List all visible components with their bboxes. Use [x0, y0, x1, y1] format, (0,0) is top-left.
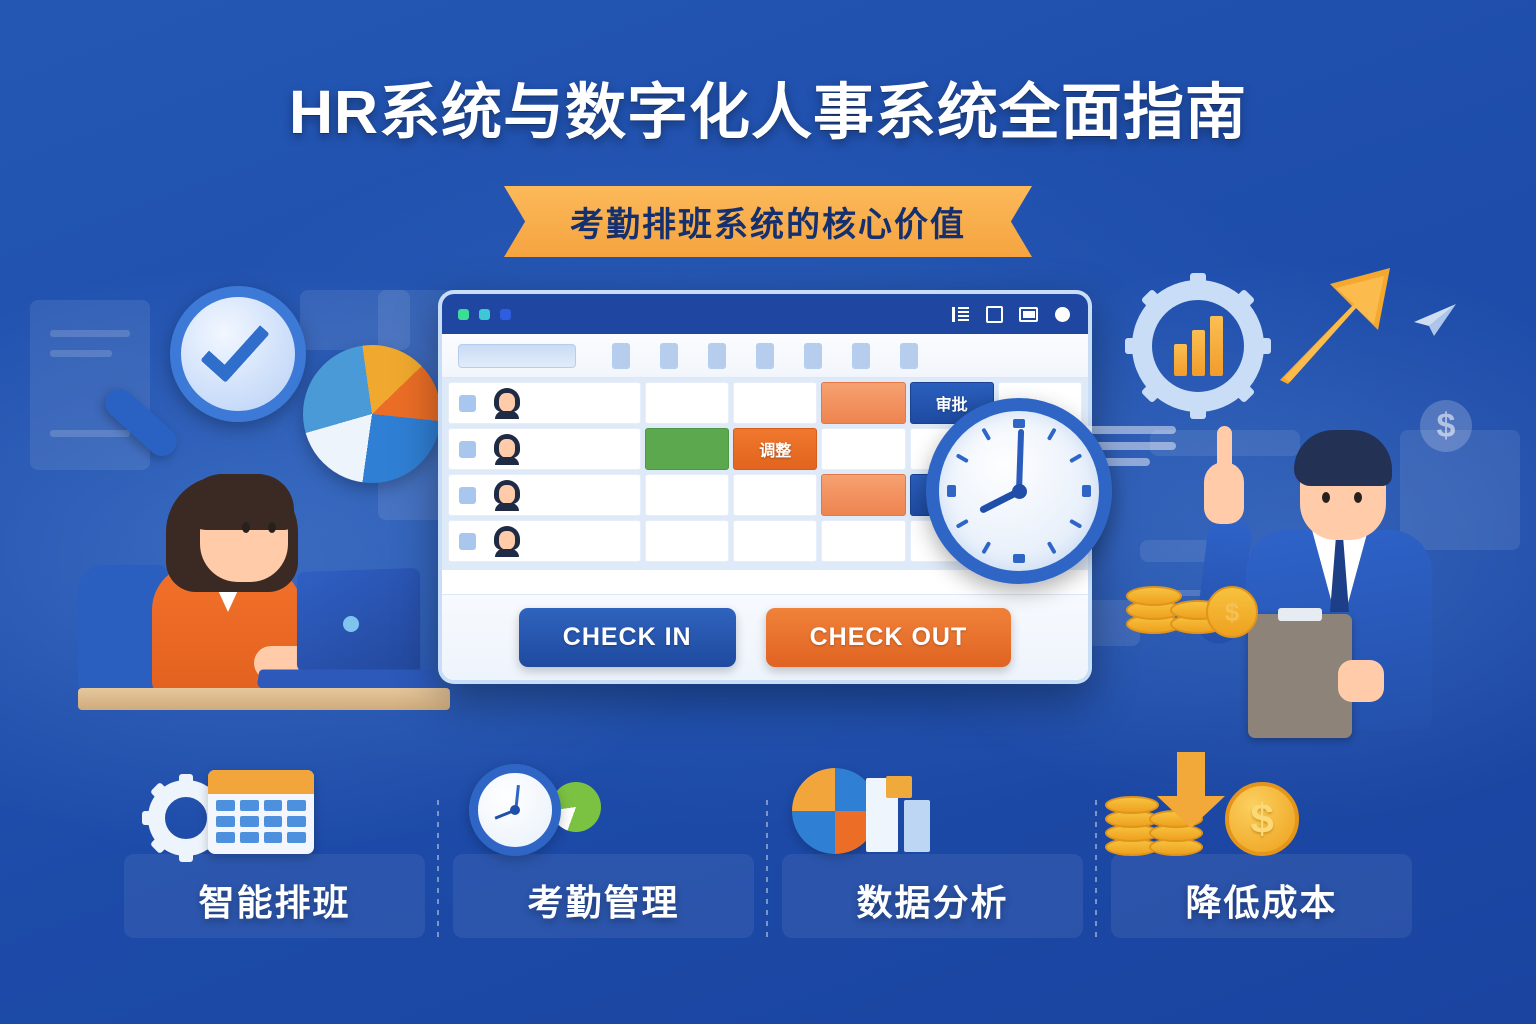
woman-at-laptop-illustration [78, 460, 458, 740]
wall-clock-icon [926, 398, 1112, 584]
feature-label: 数据分析 [856, 874, 1008, 926]
gear-calendar-icon [110, 760, 439, 856]
toolbar-chip[interactable] [804, 343, 822, 369]
eye [1354, 492, 1362, 503]
bar [904, 800, 930, 852]
pie-bar-chart-icon [768, 760, 1097, 856]
dollar-coin-icon: $ [1225, 782, 1299, 856]
paper-plane-icon [1412, 302, 1458, 338]
avatar [492, 434, 522, 464]
desk [78, 688, 450, 710]
toolbar-chips [612, 343, 918, 369]
shift-cell[interactable] [821, 520, 905, 562]
coins-down-arrow-icon: $ [1097, 760, 1426, 856]
toolbar-chip[interactable] [660, 343, 678, 369]
traffic-dot-blue[interactable] [500, 309, 511, 320]
toolbar-chip[interactable] [900, 343, 918, 369]
businessman-illustration [1162, 400, 1492, 730]
eye [242, 522, 250, 533]
search-input[interactable] [458, 344, 576, 368]
hair-front [186, 474, 294, 530]
eye [1322, 492, 1330, 503]
avatar [492, 388, 522, 418]
clock-icon [469, 764, 561, 856]
down-arrow-icon [1153, 752, 1229, 830]
employee-cell[interactable] [448, 474, 641, 516]
shift-cell[interactable] [733, 520, 817, 562]
hair [1294, 430, 1392, 486]
clipboard-clip [1278, 608, 1322, 621]
avatar [492, 526, 522, 556]
window-titlebar [442, 294, 1088, 334]
shift-cell-orange[interactable] [821, 382, 905, 424]
hand [1338, 660, 1384, 702]
feature-data-analysis[interactable]: 数据分析 [768, 760, 1097, 960]
shift-cell[interactable] [645, 382, 729, 424]
shift-cell[interactable] [733, 474, 817, 516]
clock-face [926, 398, 1112, 584]
calendar-icon [208, 770, 314, 854]
shift-cell[interactable] [733, 382, 817, 424]
subtitle-banner: 考勤排班系统的核心价值 [504, 186, 1032, 257]
toolbar-chip[interactable] [708, 343, 726, 369]
laptop-logo [343, 616, 359, 632]
row-checkbox[interactable] [459, 487, 476, 504]
toolbar-chip[interactable] [756, 343, 774, 369]
square-icon[interactable] [985, 305, 1004, 324]
row-checkbox[interactable] [459, 441, 476, 458]
window-toolbar [442, 334, 1088, 378]
row-checkbox[interactable] [459, 533, 476, 550]
shift-cell-orange[interactable] [821, 474, 905, 516]
clock-pie-icon [439, 760, 768, 856]
traffic-dot-green[interactable] [458, 309, 469, 320]
right-illustration: $ $ [1116, 250, 1536, 750]
header: HR系统与数字化人事系统全面指南 [0, 62, 1536, 151]
feature-label: 考勤管理 [527, 874, 679, 926]
gear-bar-chart-icon [1132, 280, 1264, 412]
feature-cost-reduction[interactable]: $ 降低成本 [1097, 760, 1426, 960]
shift-cell[interactable] [645, 474, 729, 516]
employee-cell[interactable] [448, 382, 641, 424]
feature-label: 降低成本 [1185, 874, 1337, 926]
up-arrow-icon [1266, 258, 1396, 388]
minute-hand [1016, 429, 1024, 491]
shift-cell[interactable] [821, 428, 905, 470]
magnifier-handle-icon [99, 383, 182, 462]
check-in-button[interactable]: CHECK IN [519, 608, 736, 667]
shift-cell-green[interactable] [645, 428, 729, 470]
action-bar: CHECK IN CHECK OUT [442, 594, 1088, 680]
window-icon[interactable] [1019, 305, 1038, 324]
employee-cell[interactable] [448, 428, 641, 470]
toolbar-chip[interactable] [852, 343, 870, 369]
clock-center [1012, 484, 1027, 499]
poster-background: HR系统与数字化人事系统全面指南 考勤排班系统的核心价值 [0, 0, 1536, 1024]
traffic-dot-teal[interactable] [479, 309, 490, 320]
status-badge[interactable]: 调整 [733, 428, 817, 470]
feature-row: 智能排班 考勤管理 数据分析 [110, 760, 1426, 960]
bar [886, 776, 912, 798]
toolbar-chip[interactable] [612, 343, 630, 369]
clipboard [1248, 614, 1352, 738]
feature-attendance[interactable]: 考勤管理 [439, 760, 768, 960]
coin-stack-icon: $ [1126, 570, 1256, 650]
eye [268, 522, 276, 533]
list-lines-icon[interactable] [951, 305, 970, 324]
feature-label: 智能排班 [198, 874, 350, 926]
laptop-keyboard [256, 669, 437, 688]
page-title: HR系统与数字化人事系统全面指南 [0, 62, 1536, 151]
pointing-finger [1217, 426, 1232, 474]
titlebar-actions [951, 305, 1072, 324]
avatar [492, 480, 522, 510]
employee-cell[interactable] [448, 520, 641, 562]
left-illustration [0, 250, 470, 750]
circle-icon[interactable] [1053, 305, 1072, 324]
check-out-button[interactable]: CHECK OUT [766, 608, 1012, 667]
shift-cell[interactable] [645, 520, 729, 562]
row-checkbox[interactable] [459, 395, 476, 412]
feature-smart-scheduling[interactable]: 智能排班 [110, 760, 439, 960]
